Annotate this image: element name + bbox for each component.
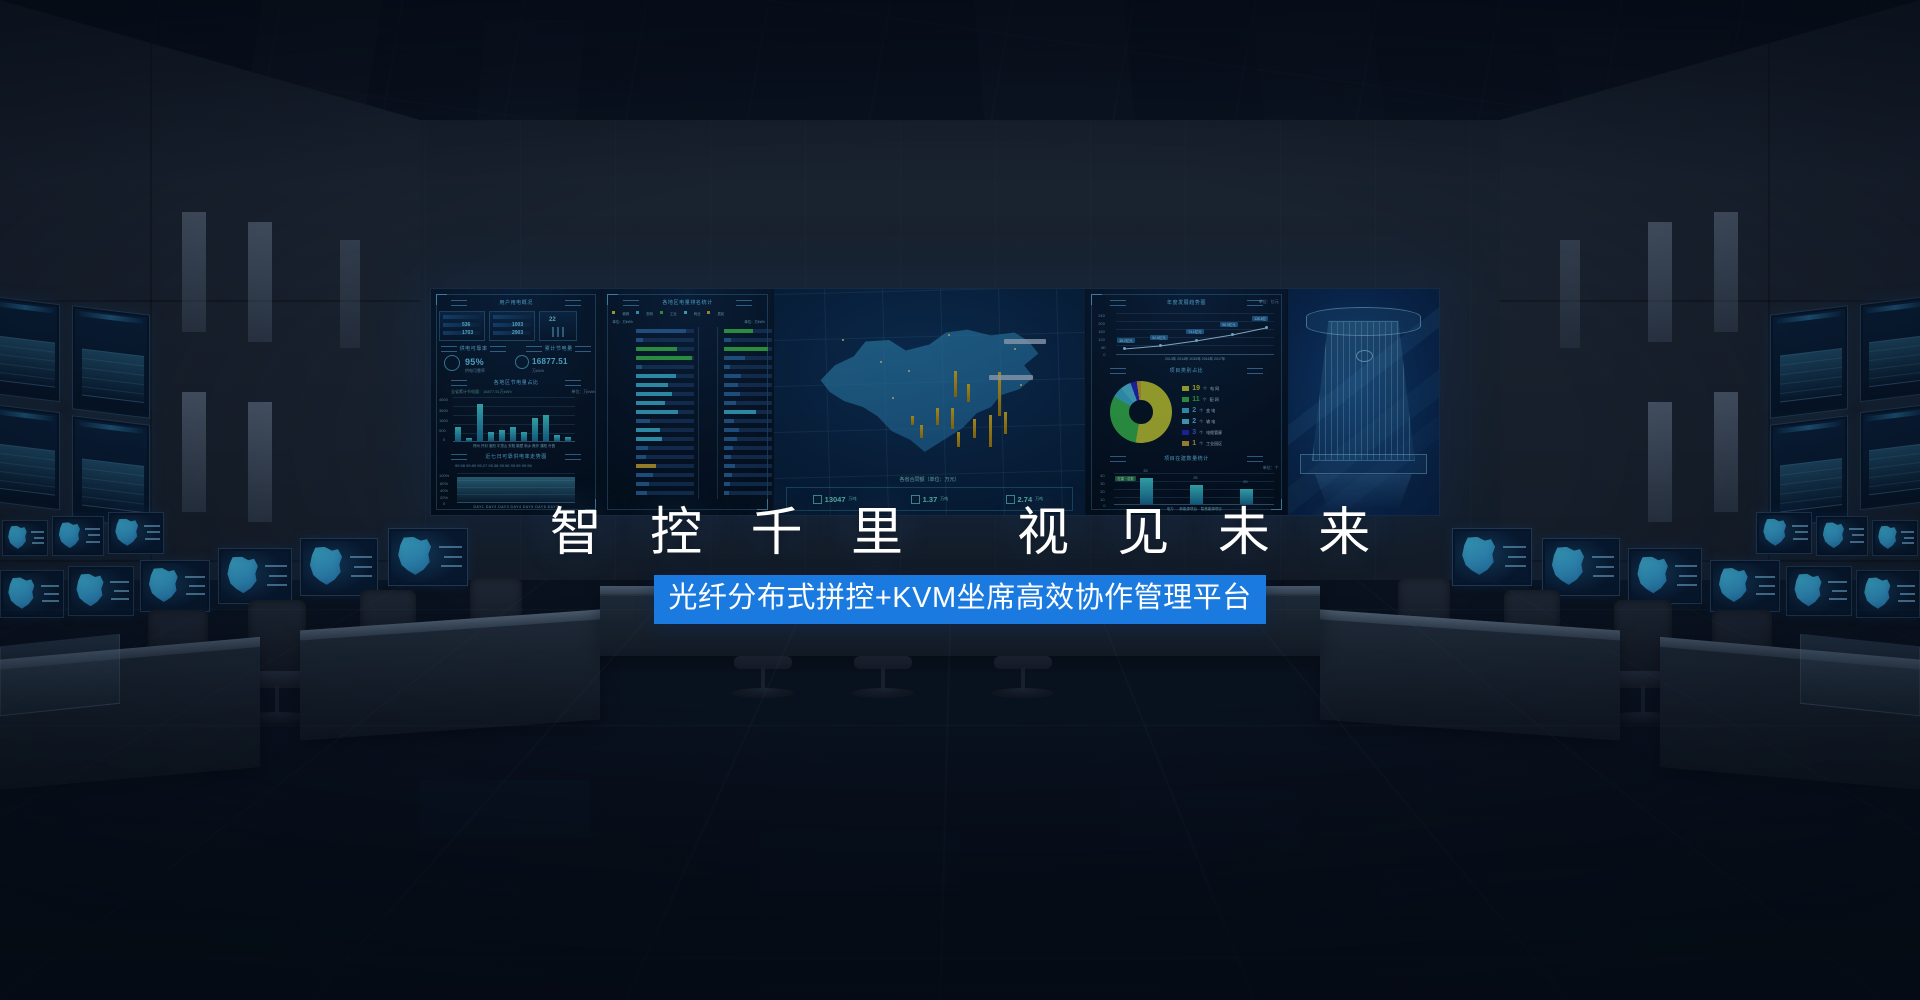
panel-b-title: 各地区电量排名统计 (602, 299, 772, 306)
panel-d-unit: 单位：亿元 (1259, 299, 1279, 305)
wall-monitor[interactable] (0, 404, 60, 511)
videowall-panel-analysis[interactable]: 年度发展趋势图 单位：亿元 38 (1086, 289, 1288, 515)
wall-monitor[interactable] (0, 296, 60, 403)
panel-a-bar-note: 全省累计节电量：16877.51万kWh (451, 389, 512, 395)
wall-monitor[interactable] (1770, 305, 1848, 419)
kpi-box-1[interactable]: 536 1703 (439, 311, 485, 341)
videowall-panel-building-3d[interactable] (1288, 289, 1439, 515)
donut-legend-2-count: 2 (1192, 407, 1196, 414)
trend-line-svg (1116, 313, 1274, 355)
control-room-scene: 用户用电概况 536 1703 1003 2903 22 (0, 0, 1920, 1000)
building-podium (1300, 454, 1427, 474)
video-wall[interactable]: 用户用电概况 536 1703 1003 2903 22 (430, 288, 1440, 516)
building-roof-ring (1306, 307, 1421, 336)
reliability-value: 95% (465, 357, 484, 367)
map-stat-1: 13047 万吨 (787, 495, 882, 504)
building-wireframe-model (1312, 321, 1415, 461)
map-stat-3-value: 2.74 (1018, 495, 1033, 504)
map-stat-2: 1.37 万吨 (882, 495, 977, 504)
panel-a-sub-title-1: 供电可靠率 (431, 345, 516, 352)
chart-project-category-donut (1110, 381, 1172, 443)
videowall-panel-region-ranking[interactable]: 各地区电量排名统计 城网 农网 工业 商业 居民 单位：万kWh 单位：万kWh (602, 289, 773, 515)
donut-legend-0-name: 电 网 (1210, 386, 1219, 392)
reliability-gauge-icon (444, 355, 460, 371)
chart-region-saving-bars (453, 397, 575, 443)
map-legend-label: 各省合同额（单位：万元） (774, 476, 1085, 483)
saving-unit: 万kWh (532, 368, 544, 374)
donut-legend-4-count: 3 (1192, 429, 1196, 436)
donut-legend-5-count: 1 (1192, 440, 1196, 447)
workstation-desk (300, 610, 600, 741)
map-stat-3-unit: 万吨 (1035, 496, 1043, 502)
map-stat-2-value: 1.37 (923, 495, 938, 504)
donut-legend-5-unit: 个 (1199, 441, 1203, 447)
hero-title-part1: 智 控 千 里 (550, 504, 920, 562)
chart-project-count-bars: 在建 · 总数 33 25 20 (1114, 473, 1274, 505)
donut-legend-3-name: 输 电 (1206, 419, 1215, 425)
saving-value: 16877.51 (532, 357, 568, 366)
desk-glass-divider (1800, 634, 1920, 717)
panel-d-bar-unit: 单位：个 (1263, 465, 1279, 471)
donut-legend-0-unit: 个 (1203, 386, 1207, 392)
videowall-panel-china-map[interactable]: 各省合同额（单位：万元） 13047 万吨 1.37 万吨 (774, 289, 1086, 515)
kpi-value-2: 1703 (462, 330, 473, 336)
panel-a-sub-title-2: 累计节电量 (516, 345, 601, 352)
wall-monitor[interactable] (1860, 404, 1920, 511)
wall-monitor[interactable] (72, 305, 150, 419)
hero-banner-root: 用户用电概况 536 1703 1003 2903 22 (0, 0, 1920, 1000)
chart-annual-trend-line: 38.2亿元 52.6亿元 74.1亿元 96.3亿元 126.8亿 (1116, 313, 1274, 355)
desk-glass-divider (0, 634, 120, 717)
tree-icon (813, 495, 822, 504)
map-stat-1-value: 13047 (825, 495, 846, 504)
wall-monitor[interactable] (1860, 296, 1920, 403)
kpi-box-3[interactable]: 22 (539, 311, 577, 341)
kpi-value-3: 1003 (512, 322, 523, 328)
donut-legend-3-count: 2 (1192, 418, 1196, 425)
donut-legend-1-count: 11 (1192, 396, 1199, 403)
water-icon (911, 495, 920, 504)
donut-legend-1-name: 配 网 (1210, 397, 1219, 403)
donut-legend-4-name: 电缆管廊 (1206, 430, 1222, 436)
donut-legend-4-unit: 个 (1199, 430, 1203, 436)
kpi-value-4: 2903 (512, 330, 523, 336)
panel-d-donut-title: 项目类别占比 (1086, 367, 1287, 374)
videowall-panel-energy-overview[interactable]: 用户用电概况 536 1703 1003 2903 22 (431, 289, 602, 515)
panel-a-bar-title: 各地区节电量占比 (431, 379, 601, 386)
kpi-value-online: 22 (549, 317, 556, 323)
map-stat-3: 2.74 万吨 (977, 495, 1072, 504)
map-stat-2-unit: 万吨 (940, 496, 948, 502)
page-title: 智 控 千 里 视 见 未 来 (0, 505, 1920, 561)
donut-legend-0-count: 19 (1192, 385, 1200, 392)
kpi-value-1: 536 (462, 322, 470, 328)
bar-badge: 在建 · 总数 (1115, 476, 1136, 481)
map-stat-1-unit: 万吨 (849, 496, 857, 502)
donut-legend-2-unit: 个 (1199, 408, 1203, 414)
chart-reliability-area (457, 473, 575, 503)
hero-subtitle-wrap: 光纤分布式拼控+KVM坐席高效协作管理平台 (0, 575, 1920, 624)
donut-legend-1-unit: 个 (1203, 397, 1207, 403)
panel-a-area-title: 近七日可靠供电率走势图 (431, 453, 601, 460)
kpi-box-2[interactable]: 1003 2903 (489, 311, 535, 341)
power-icon (1006, 495, 1015, 504)
panel-a-bar-unit: 单位：万kWh (571, 389, 595, 395)
panel-a-title: 用户用电概况 (431, 299, 601, 306)
donut-legend-2-name: 变 电 (1206, 408, 1215, 414)
saving-gauge-icon (515, 355, 529, 369)
panel-d-title: 年度发展趋势图 (1086, 299, 1287, 306)
donut-legend-3-unit: 个 (1199, 419, 1203, 425)
hero-title-part2: 视 见 未 来 (1017, 504, 1387, 562)
donut-legend-5-name: 工业园区 (1206, 441, 1222, 447)
workstation-desk (1320, 610, 1620, 741)
panel-d-bar-title: 项目在建数量统计 (1086, 455, 1287, 462)
hero-text-block: 智 控 千 里 视 见 未 来 光纤分布式拼控+KVM坐席高效协作管理平台 (0, 505, 1920, 624)
hero-subtitle-banner: 光纤分布式拼控+KVM坐席高效协作管理平台 (654, 575, 1265, 624)
